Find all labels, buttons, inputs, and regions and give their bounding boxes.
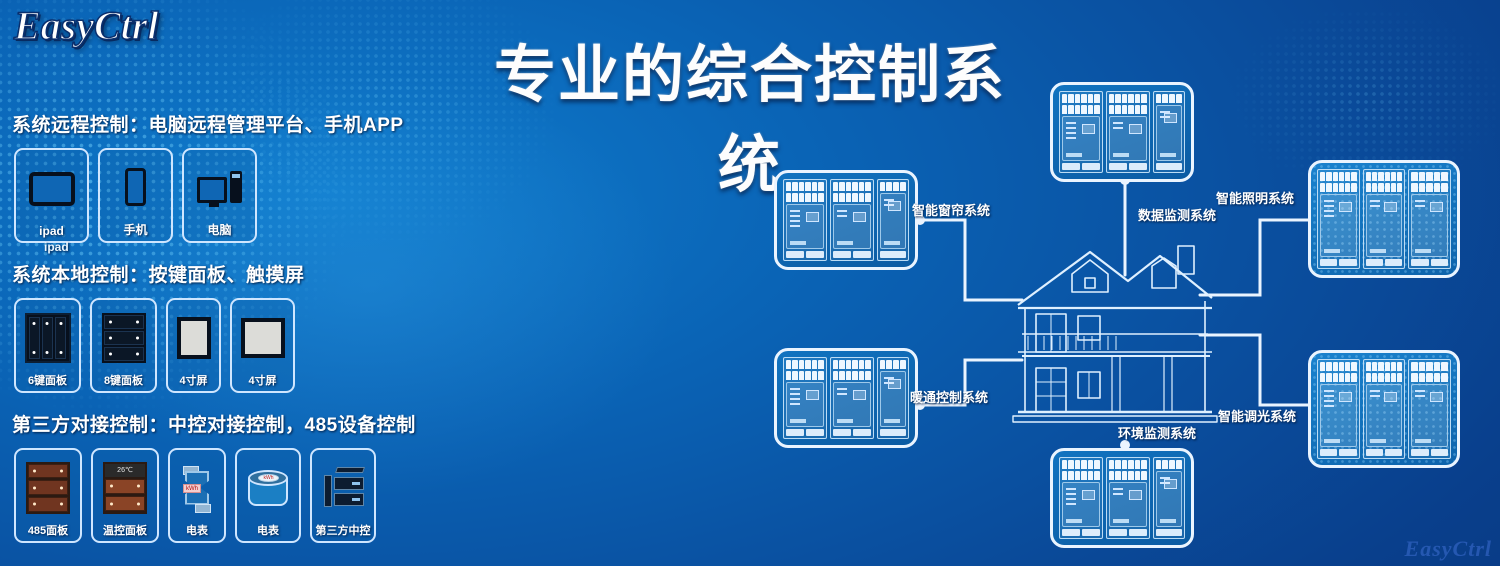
device-card-label: 8键面板	[104, 372, 143, 388]
diagram-label-dimming: 智能调光系统	[1218, 406, 1296, 425]
device-card-rs485-panel[interactable]: 485面板	[14, 448, 82, 543]
poster-canvas: EasyCtrl 专业的综合控制系统 系统远程控制：电脑远程管理平台、手机APP…	[0, 0, 1500, 566]
device-card-label: 电脑	[207, 221, 231, 238]
device-card-electric-meter-round[interactable]: kWh 电表	[235, 448, 301, 543]
controller-unit	[1059, 91, 1103, 173]
device-card-thermostat-panel[interactable]: 26℃ 温控面板	[91, 448, 159, 543]
section-heading-local: 系统本地控制：按键面板、触摸屏	[12, 260, 305, 287]
controller-unit	[1317, 169, 1360, 269]
controller-unit	[1106, 457, 1150, 539]
module-environment[interactable]	[1050, 448, 1194, 548]
device-card-computer[interactable]: 电脑	[182, 148, 257, 243]
controller-unit	[1363, 359, 1406, 459]
watermark: EasyCtrl	[1405, 536, 1492, 562]
meter-badge: kWh	[258, 474, 279, 482]
phone-icon	[104, 156, 167, 218]
controller-unit	[783, 357, 827, 439]
desktop-computer-icon	[188, 156, 251, 218]
module-curtain[interactable]	[774, 170, 918, 270]
device-card-eight-key-panel[interactable]: 8键面板	[90, 298, 157, 393]
controller-unit	[1059, 457, 1103, 539]
diagram-label-data: 数据监测系统	[1138, 205, 1216, 224]
controller-unit	[1153, 91, 1185, 173]
controller-unit	[830, 357, 874, 439]
system-topology-diagram: 智能窗帘系统 数据监测系统 智能照明系统 暖通控制系统 环境监测系统 智能调光系…	[760, 60, 1500, 566]
module-lighting[interactable]	[1308, 160, 1460, 278]
diagram-label-lighting: 智能照明系统	[1216, 188, 1294, 207]
rs485-panel-icon	[20, 456, 76, 519]
controller-unit	[1363, 169, 1406, 269]
eight-key-panel-icon	[96, 306, 151, 369]
device-card-label: 6键面板	[28, 372, 67, 388]
diagram-label-curtain: 智能窗帘系统	[912, 200, 990, 219]
device-card-six-key-panel[interactable]: 6键面板	[14, 298, 81, 393]
device-card-touch-screen-wide[interactable]: 4寸屏	[230, 298, 295, 393]
device-card-label: 手机	[123, 221, 147, 238]
device-card-label: 温控面板	[103, 522, 147, 538]
device-card-third-party-controller[interactable]: 第三方中控	[310, 448, 376, 543]
thermostat-display: 26℃	[105, 464, 145, 477]
device-card-touch-screen[interactable]: 4寸屏	[166, 298, 221, 393]
remote-device-row: ipad 手机 电脑	[14, 148, 257, 243]
module-hvac[interactable]	[774, 348, 918, 448]
meter-badge: kWh	[183, 484, 201, 493]
section-heading-remote: 系统远程控制：电脑远程管理平台、手机APP	[12, 110, 404, 137]
module-dimming[interactable]	[1308, 350, 1460, 468]
device-card-label: 电表	[257, 522, 279, 538]
controller-unit	[1408, 169, 1451, 269]
controller-unit	[1408, 359, 1451, 459]
house-illustration	[1013, 246, 1217, 422]
device-card-electric-meter-din[interactable]: kWh 电表	[168, 448, 226, 543]
device-card-label: 电表	[186, 522, 208, 538]
electric-meter-round-icon: kWh	[241, 456, 295, 519]
controller-unit	[830, 179, 874, 261]
diagram-label-environment: 环境监测系统	[1118, 423, 1196, 442]
touch-screen-icon	[172, 306, 215, 369]
controller-unit	[783, 179, 827, 261]
section-heading-third-party: 第三方对接控制：中控对接控制，485设备控制	[12, 410, 416, 437]
module-data[interactable]	[1050, 82, 1194, 182]
ipad-ghost-label: ipad	[44, 240, 69, 254]
electric-meter-din-icon: kWh	[174, 456, 220, 519]
third-party-device-row: 485面板 26℃ 温控面板 kWh 电表	[14, 448, 376, 543]
diagram-label-hvac: 暖通控制系统	[910, 387, 988, 406]
six-key-panel-icon	[20, 306, 75, 369]
controller-unit	[1106, 91, 1150, 173]
device-card-label: 4寸屏	[248, 372, 276, 388]
touch-screen-wide-icon	[236, 306, 289, 369]
controller-unit	[877, 357, 909, 439]
device-card-phone[interactable]: 手机	[98, 148, 173, 243]
controller-unit	[877, 179, 909, 261]
third-party-controller-icon	[316, 456, 370, 519]
tablet-icon	[20, 156, 83, 221]
device-card-label: 485面板	[28, 522, 68, 538]
device-card-label: ipad	[39, 224, 64, 238]
local-device-row: 6键面板 8键面板 4寸屏 4寸屏	[14, 298, 295, 393]
controller-unit	[1153, 457, 1185, 539]
thermostat-panel-icon: 26℃	[97, 456, 153, 519]
device-card-label: 第三方中控	[316, 522, 371, 538]
device-card-label: 4寸屏	[179, 372, 207, 388]
device-card-ipad[interactable]: ipad	[14, 148, 89, 243]
controller-unit	[1317, 359, 1360, 459]
brand-logo: EasyCtrl	[14, 2, 158, 49]
